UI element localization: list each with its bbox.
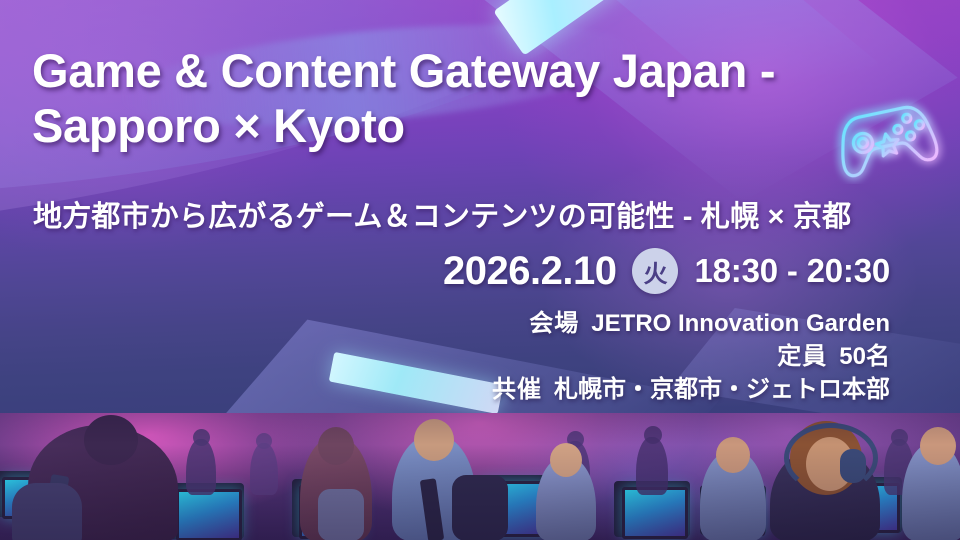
detail-label-venue: 会場 [529,308,591,340]
detail-row-organizers: 共催 札幌市・京都市・ジェトロ本部 [492,374,890,406]
event-datetime: 2026.2.10 火 18:30 - 20:30 [443,248,890,294]
event-date: 2026.2.10 [443,249,616,294]
detail-label-organizers: 共催 [492,374,554,406]
event-time-range: 18:30 - 20:30 [694,252,890,290]
detail-value-capacity: 50名 [839,341,890,373]
detail-value-organizers: 札幌市・京都市・ジェトロ本部 [554,374,890,406]
event-banner: Game & Content Gateway Japan - Sapporo ×… [0,0,960,540]
photo-vignette [0,413,960,540]
gamepad-icon [822,88,950,184]
event-photo [0,413,960,540]
detail-value-venue: JETRO Innovation Garden [591,308,890,340]
banner-subtitle: 地方都市から広がるゲーム＆コンテンツの可能性 - 札幌 × 京都 [33,193,851,235]
detail-label-capacity: 定員 [777,341,839,373]
banner-title: Game & Content Gateway Japan - Sapporo ×… [32,44,862,153]
decorative-light-shard-bottom [329,352,504,414]
day-of-week-badge: 火 [632,248,678,294]
detail-row-capacity: 定員 50名 [492,341,890,373]
detail-row-venue: 会場 JETRO Innovation Garden [492,308,890,340]
event-details: 会場 JETRO Innovation Garden 定員 50名 共催 札幌市… [492,308,890,406]
